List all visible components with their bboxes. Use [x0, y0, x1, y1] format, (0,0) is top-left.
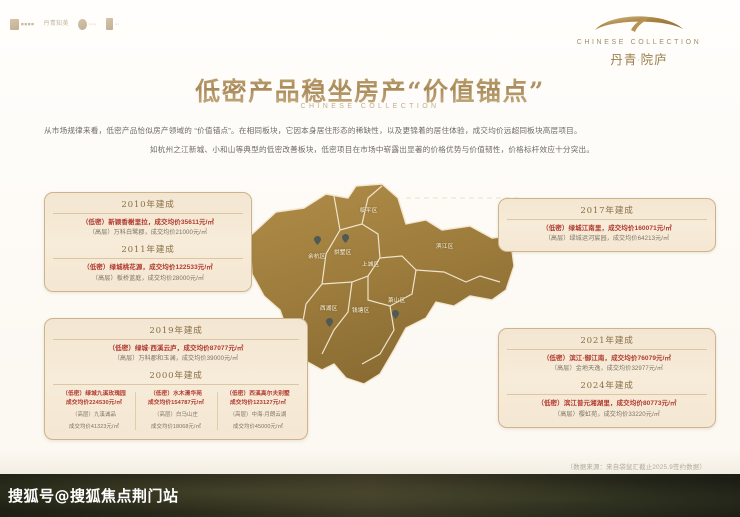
card-year-label: 2011年建成	[53, 243, 243, 259]
district-label-gongshu: 拱墅区	[334, 248, 352, 256]
partner-logo-4: ▪▪▪	[106, 18, 120, 30]
district-label-binjiang: 滨江区	[436, 242, 454, 250]
district-label-shangcheng: 上城区	[362, 260, 380, 268]
info-card-2010[interactable]: 2010年建成 （低密）新颖香榭里拉，成交均价35611元/㎡ （高层）万科白鹭…	[44, 192, 252, 292]
intro-paragraph: 从市场规律来看，低密产品恰似房产领域的 “价值锚点”。在相同板块，它因本身居住形…	[44, 121, 700, 159]
high-rise-price: 成交均价45000元/㎡	[220, 423, 296, 431]
brand-english: CHINESE COLLECTION	[564, 39, 714, 46]
partner-logo-3: ▪▪▪▪▪	[78, 19, 97, 30]
low-density-price: 成交均价123127元/㎡	[220, 399, 296, 408]
district-label-qiantang: 钱塘区	[352, 306, 370, 314]
partner-logo-1: ◼◼◼◼	[10, 19, 35, 30]
card-year-label: 2024年建成	[507, 379, 707, 395]
high-rise-line: （高层）樱虹苑，成交均价33220元/㎡	[507, 411, 707, 420]
card-2000-column: （低密）水木清华苑 成交均价154787元/㎡ （高层）白马山庄 成交均价180…	[135, 390, 217, 431]
partner-logo-1-text: ◼◼◼◼	[21, 22, 35, 26]
district-label-linping: 临平区	[360, 206, 378, 214]
card-section-2017: 2017年建成 （低密）绿城江南里，成交均价160071元/㎡ （高层）绿城运河…	[507, 204, 707, 244]
card-2000-columns: （低密）绿城九溪玫瑰园 成交均价224530元/㎡ （高层）九溪诚品 成交均价4…	[53, 390, 299, 431]
card-year-label: 2019年建成	[53, 324, 299, 340]
page-subtitle: CHINESE COLLECTION	[0, 103, 740, 110]
logo-seal-icon	[78, 19, 87, 30]
low-density-line: （低密）滨江·御江南，成交均价76079元/㎡	[507, 354, 707, 363]
brand-lockup: CHINESE COLLECTION 丹青·院庐	[564, 10, 714, 68]
card-2000-column: （低密）西溪高尔夫别墅 成交均价123127元/㎡ （高层）中海·月朗云湖 成交…	[217, 390, 299, 431]
card-section-2011: 2011年建成 （低密）绿城桃花源，成交均价122533元/㎡ （高层）板桥蓝庭…	[53, 243, 243, 283]
district-label-yuhang: 余杭区	[308, 252, 326, 260]
poster-page: ◼◼◼◼ 丹青知美 ▪▪▪▪▪ ▪▪▪	[0, 0, 740, 517]
high-rise-name: （高层）白马山庄	[138, 411, 214, 419]
brand-chinese-tail: 院庐	[641, 52, 668, 67]
high-rise-line: （高层）绿城运河宸园，成交均价64213元/㎡	[507, 235, 707, 244]
low-density-line: （低密）新颖香榭里拉，成交均价35611元/㎡	[53, 218, 243, 227]
low-density-line: （低密）滨江普元湘湖里，成交均价80773元/㎡	[507, 399, 707, 408]
low-density-name: （低密）绿城九溪玫瑰园	[56, 390, 132, 399]
card-year-label: 2010年建成	[53, 198, 243, 214]
card-2000-column: （低密）绿城九溪玫瑰园 成交均价224530元/㎡ （高层）九溪诚品 成交均价4…	[53, 390, 135, 431]
low-density-price: 成交均价224530元/㎡	[56, 399, 132, 408]
map-pin-icon	[392, 310, 398, 318]
card-section-2024: 2024年建成 （低密）滨江普元湘湖里，成交均价80773元/㎡ （高层）樱虹苑…	[507, 379, 707, 419]
partner-logo-2: 丹青知美	[44, 21, 69, 27]
partner-logo-3-text: ▪▪▪▪▪	[89, 22, 97, 26]
high-rise-line: （高层）万科白鹭郡，成交均价21000元/㎡	[53, 229, 243, 238]
low-density-name: （低密）西溪高尔夫别墅	[220, 390, 296, 399]
low-density-line: （低密）绿城桃花源，成交均价122533元/㎡	[53, 263, 243, 272]
low-density-price: 成交均价154787元/㎡	[138, 399, 214, 408]
card-year-label: 2000年建成	[53, 369, 299, 385]
info-card-2021[interactable]: 2021年建成 （低密）滨江·御江南，成交均价76079元/㎡ （高层）金地天逸…	[498, 328, 716, 428]
high-rise-price: 成交均价41323元/㎡	[56, 423, 132, 431]
brand-chinese-head: 丹青	[610, 52, 637, 67]
info-card-2017[interactable]: 2017年建成 （低密）绿城江南里，成交均价160071元/㎡ （高层）绿城运河…	[498, 198, 716, 252]
bottom-banner: 搜狐号@搜狐焦点荆门站	[0, 474, 740, 517]
info-card-2019[interactable]: 2019年建成 （低密）绿城·西溪云庐，成交均价87077元/㎡ （高层）万科郡…	[44, 318, 308, 440]
map-pin-icon	[326, 318, 332, 326]
partner-logo-2-text: 丹青知美	[44, 21, 69, 27]
high-rise-line: （高层）板桥蓝庭，成交均价28000元/㎡	[53, 275, 243, 284]
district-label-xihu: 西湖区	[320, 304, 338, 312]
map-pin-icon	[342, 234, 348, 242]
partner-logo-4-text: ▪▪▪	[115, 22, 120, 26]
partner-logo-bar: ◼◼◼◼ 丹青知美 ▪▪▪▪▪ ▪▪▪	[10, 18, 119, 30]
card-section-2021: 2021年建成 （低密）滨江·御江南，成交均价76079元/㎡ （高层）金地天逸…	[507, 334, 707, 374]
card-section-2010: 2010年建成 （低密）新颖香榭里拉，成交均价35611元/㎡ （高层）万科白鹭…	[53, 198, 243, 238]
low-density-line: （低密）绿城·西溪云庐，成交均价87077元/㎡	[53, 344, 299, 353]
watermark-text: 搜狐号@搜狐焦点荆门站	[8, 485, 179, 506]
high-rise-name: （高层）中海·月朗云湖	[220, 411, 296, 419]
decorative-fade	[0, 452, 740, 474]
high-rise-price: 成交均价18068元/㎡	[138, 423, 214, 431]
card-year-label: 2017年建成	[507, 204, 707, 220]
intro-line-2: 如杭州之江新城、小和山等典型的低密改善板块，低密项目在市场中崭露出显著的价格优势…	[44, 140, 700, 159]
low-density-line: （低密）绿城江南里，成交均价160071元/㎡	[507, 224, 707, 233]
card-year-label: 2021年建成	[507, 334, 707, 350]
low-density-name: （低密）水木清华苑	[138, 390, 214, 399]
logo-mark-icon	[10, 19, 19, 30]
logo-glyph-icon	[106, 18, 113, 30]
high-rise-line: （高层）金地天逸，成交均价32977元/㎡	[507, 365, 707, 374]
district-label-xiaoshan: 萧山区	[388, 296, 406, 304]
high-rise-line: （高层）万科郡和玉澜，成交均价39000元/㎡	[53, 355, 299, 364]
intro-line-1: 从市场规律来看，低密产品恰似房产领域的 “价值锚点”。在相同板块，它因本身居住形…	[44, 121, 700, 140]
card-section-2019: 2019年建成 （低密）绿城·西溪云庐，成交均价87077元/㎡ （高层）万科郡…	[53, 324, 299, 364]
map-pin-icon	[314, 236, 320, 244]
brand-swoosh-icon	[564, 10, 714, 36]
card-section-2000: 2000年建成 （低密）绿城九溪玫瑰园 成交均价224530元/㎡ （高层）九溪…	[53, 369, 299, 431]
high-rise-name: （高层）九溪诚品	[56, 411, 132, 419]
brand-chinese: 丹青·院庐	[564, 49, 714, 68]
